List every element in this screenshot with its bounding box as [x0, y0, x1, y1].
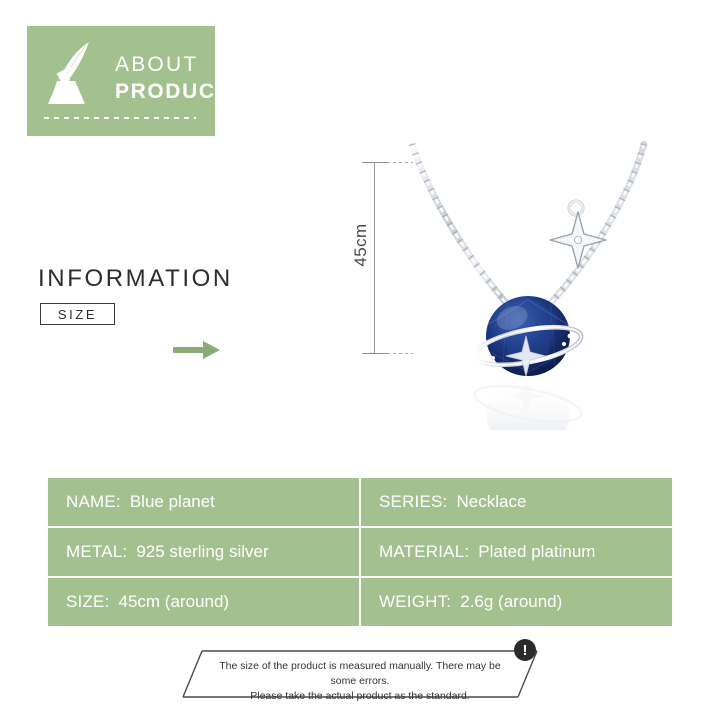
spec-value-weight: 2.6g (around) [460, 592, 562, 612]
dimension-tick-bottom [362, 353, 387, 354]
exclamation-icon: ! [514, 639, 536, 661]
note-line-1: The size of the product is measured manu… [210, 659, 510, 689]
disclaimer-note: The size of the product is measured manu… [182, 650, 538, 698]
spec-value-metal: 925 sterling silver [136, 542, 268, 562]
banner-text: ABOUT PRODUCT [115, 52, 230, 106]
spec-value-material: Plated platinum [478, 542, 595, 562]
spec-key-series: SERIES: [379, 492, 447, 512]
four-point-star-charm [550, 212, 606, 268]
spec-value-name: Blue planet [130, 492, 215, 512]
product-photo-necklace [398, 140, 658, 430]
banner-line-2: PRODUCT [115, 78, 230, 106]
spec-value-series: Necklace [456, 492, 526, 512]
size-label-text: SIZE [58, 307, 97, 322]
table-row: SERIES: Necklace [361, 478, 672, 526]
information-heading: INFORMATION [38, 265, 233, 293]
table-row: NAME: Blue planet [48, 478, 359, 526]
banner-dashed-divider [44, 117, 196, 119]
spec-key-name: NAME: [66, 492, 121, 512]
table-row: SIZE: 45cm (around) [48, 578, 359, 626]
size-label-box: SIZE [40, 303, 115, 325]
dimension-vertical-line [374, 162, 375, 353]
spec-value-size: 45cm (around) [119, 592, 230, 612]
banner-line-1: ABOUT [115, 52, 230, 78]
note-line-2: Please take the actual product as the st… [210, 689, 510, 704]
spec-key-weight: WEIGHT: [379, 592, 451, 612]
spec-key-metal: METAL: [66, 542, 127, 562]
quill-pen-inkpot-icon [45, 40, 107, 106]
table-row: WEIGHT: 2.6g (around) [361, 578, 672, 626]
table-row: METAL: 925 sterling silver [48, 528, 359, 576]
spec-key-size: SIZE: [66, 592, 110, 612]
table-row: MATERIAL: Plated platinum [361, 528, 672, 576]
note-text: The size of the product is measured manu… [210, 659, 510, 704]
right-arrow-icon [173, 340, 221, 360]
spec-key-material: MATERIAL: [379, 542, 469, 562]
specification-table: NAME: Blue planet SERIES: Necklace METAL… [48, 478, 672, 626]
exclamation-glyph: ! [523, 643, 528, 658]
dimension-label: 45cm [351, 216, 371, 274]
about-product-banner: ABOUT PRODUCT [27, 26, 215, 136]
